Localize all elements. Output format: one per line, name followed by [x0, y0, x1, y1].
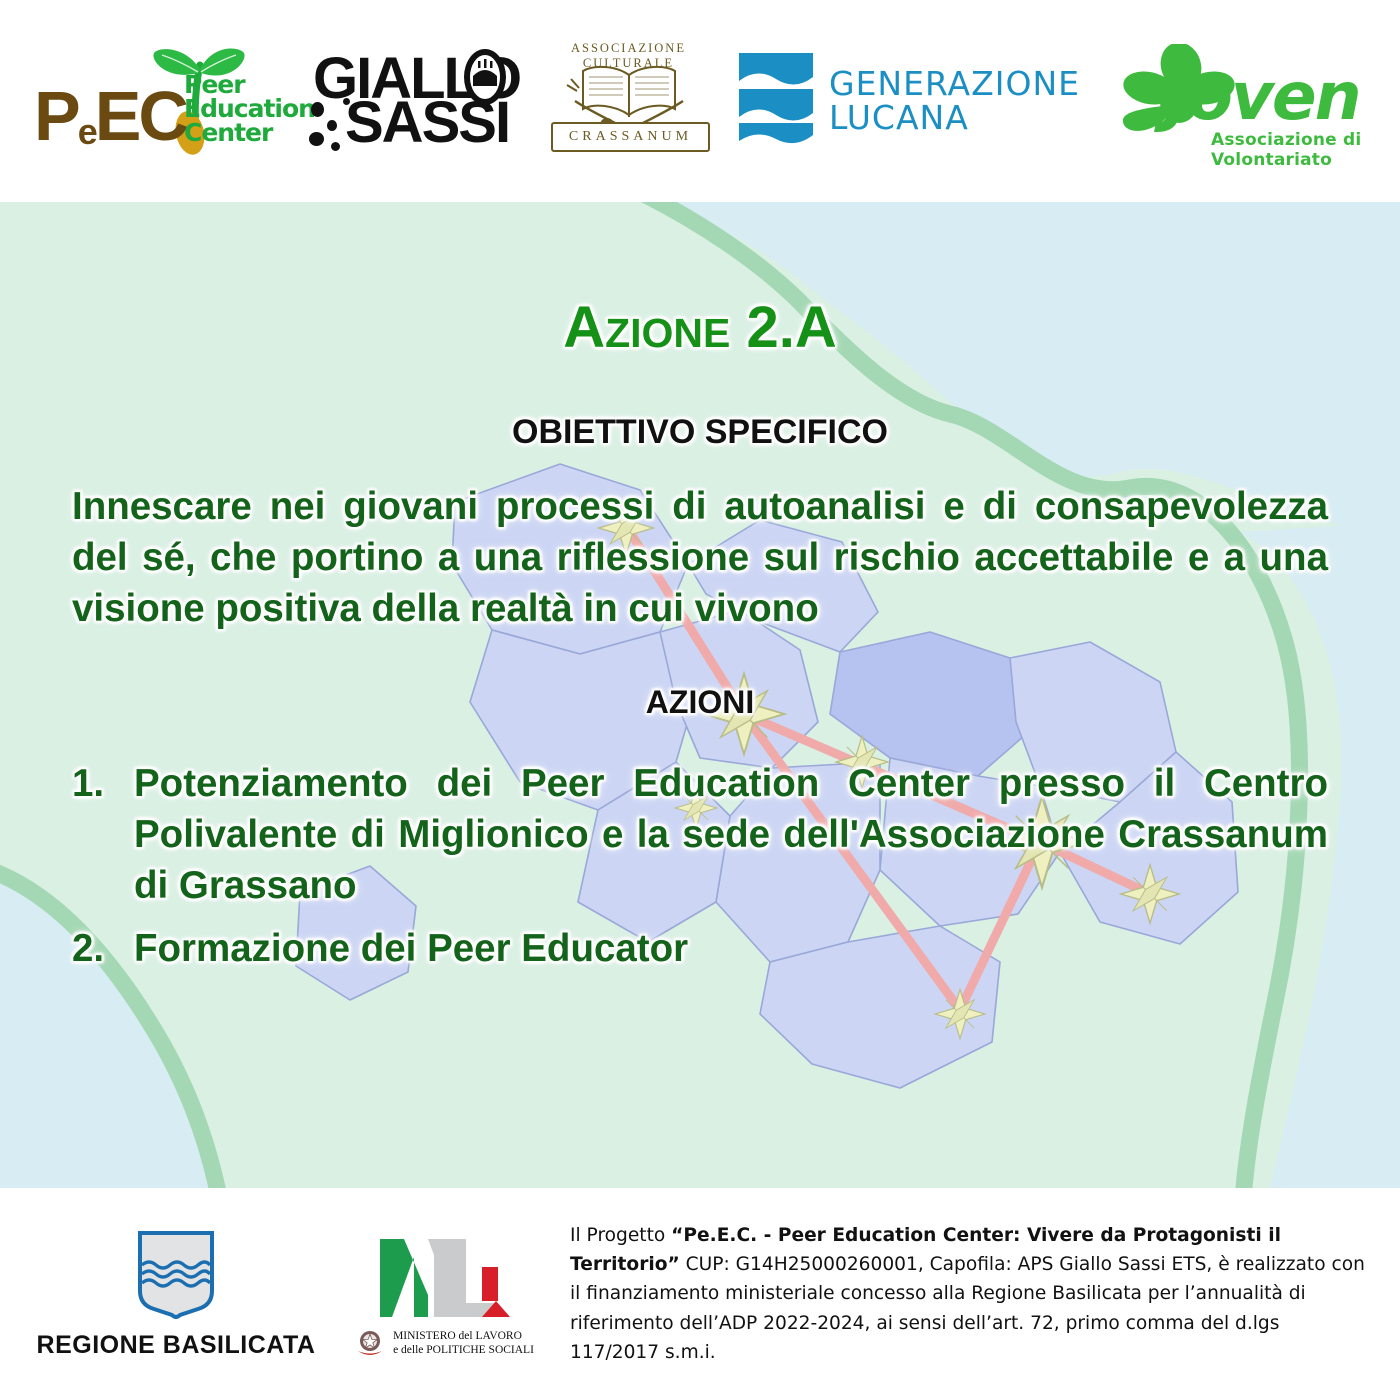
objective-heading: OBIETTIVO SPECIFICO	[72, 413, 1328, 452]
joven-subtitle: Associazione di Volontariato	[1211, 130, 1366, 170]
ministero-line2: e delle POLITICHE SOCIALI	[393, 1343, 534, 1357]
pec-wordmark: Peer Education Center	[184, 73, 315, 145]
action-text: Formazione dei Peer Educator	[134, 924, 1328, 975]
action-item: 1. Potenziamento dei Peer Education Cent…	[72, 759, 1328, 911]
objective-text: Innescare nei giovani processi di autoan…	[72, 482, 1328, 634]
crassanum-band-text: CRASSANUM	[551, 122, 710, 152]
pec-acronym: PeEC	[34, 81, 186, 151]
sassi-dot	[327, 120, 337, 131]
logo-ministero-lavoro: MINISTERO del LAVORO e delle POLITICHE S…	[344, 1229, 544, 1359]
actions-list: 1. Potenziamento dei Peer Education Cent…	[72, 759, 1328, 974]
genluc-line2: LUCANA	[829, 101, 1080, 135]
regione-basilicata-shield-icon	[136, 1229, 216, 1321]
partner-logo-bar: PeEC Peer Education Center GIALLO SASSI	[0, 0, 1400, 202]
regione-basilicata-label: REGIONE BASILICATA	[37, 1331, 316, 1360]
sassi-dot	[309, 132, 324, 146]
generazione-lucana-wordmark: GENERAZIONE LUCANA	[829, 67, 1080, 136]
logo-regione-basilicata: REGIONE BASILICATA	[26, 1229, 326, 1360]
wave-shield-icon	[737, 49, 815, 154]
genluc-line1: GENERAZIONE	[829, 67, 1080, 101]
pec-word-center: Center	[184, 121, 315, 145]
logo-generazione-lucana: GENERAZIONE LUCANA	[737, 49, 1080, 154]
pec-letter-ec: EC	[95, 77, 186, 155]
sassi-dot	[331, 142, 340, 151]
logo-giallo-sassi: GIALLO SASSI	[305, 44, 520, 159]
sassi-cave-icon	[455, 46, 515, 108]
main-content: Azione 2.A OBIETTIVO SPECIFICO Innescare…	[0, 202, 1400, 1188]
pec-letter-p: P	[34, 77, 78, 155]
actions-heading: AZIONI	[72, 684, 1328, 721]
logo-pec: PeEC Peer Education Center	[34, 41, 284, 161]
footer: REGIONE BASILICATA MINISTERO del LAVORO	[0, 1188, 1400, 1400]
joven-wordmark: Joven	[1165, 64, 1360, 130]
logo-joven: Joven Associazione di Volontariato	[1101, 42, 1366, 160]
sassi-dot	[311, 102, 324, 117]
pec-letter-e: e	[78, 111, 95, 152]
page-title: Azione 2.A	[72, 294, 1328, 361]
action-number: 1.	[72, 759, 134, 810]
sassi-dot	[343, 98, 350, 105]
action-item: 2. Formazione dei Peer Educator	[72, 924, 1328, 975]
poster: PeEC Peer Education Center GIALLO SASSI	[0, 0, 1400, 1400]
action-number: 2.	[72, 924, 134, 975]
action-text: Potenziamento dei Peer Education Center …	[134, 759, 1328, 911]
ministero-line1: MINISTERO del LAVORO	[393, 1329, 534, 1343]
ministero-caption: MINISTERO del LAVORO e delle POLITICHE S…	[354, 1327, 534, 1359]
italian-republic-emblem-icon	[354, 1327, 386, 1359]
funding-disclaimer: Il Progetto “Pe.E.C. - Peer Education Ce…	[570, 1221, 1374, 1368]
disclaimer-lead: Il Progetto	[570, 1225, 671, 1246]
disclaimer-rest: CUP: G14H25000260001, Capofila: APS Gial…	[570, 1254, 1365, 1363]
ministero-ml-monogram-icon	[370, 1229, 518, 1325]
logo-crassanum: ASSOCIAZIONE CULTURALE CRASSANUM	[541, 39, 716, 164]
